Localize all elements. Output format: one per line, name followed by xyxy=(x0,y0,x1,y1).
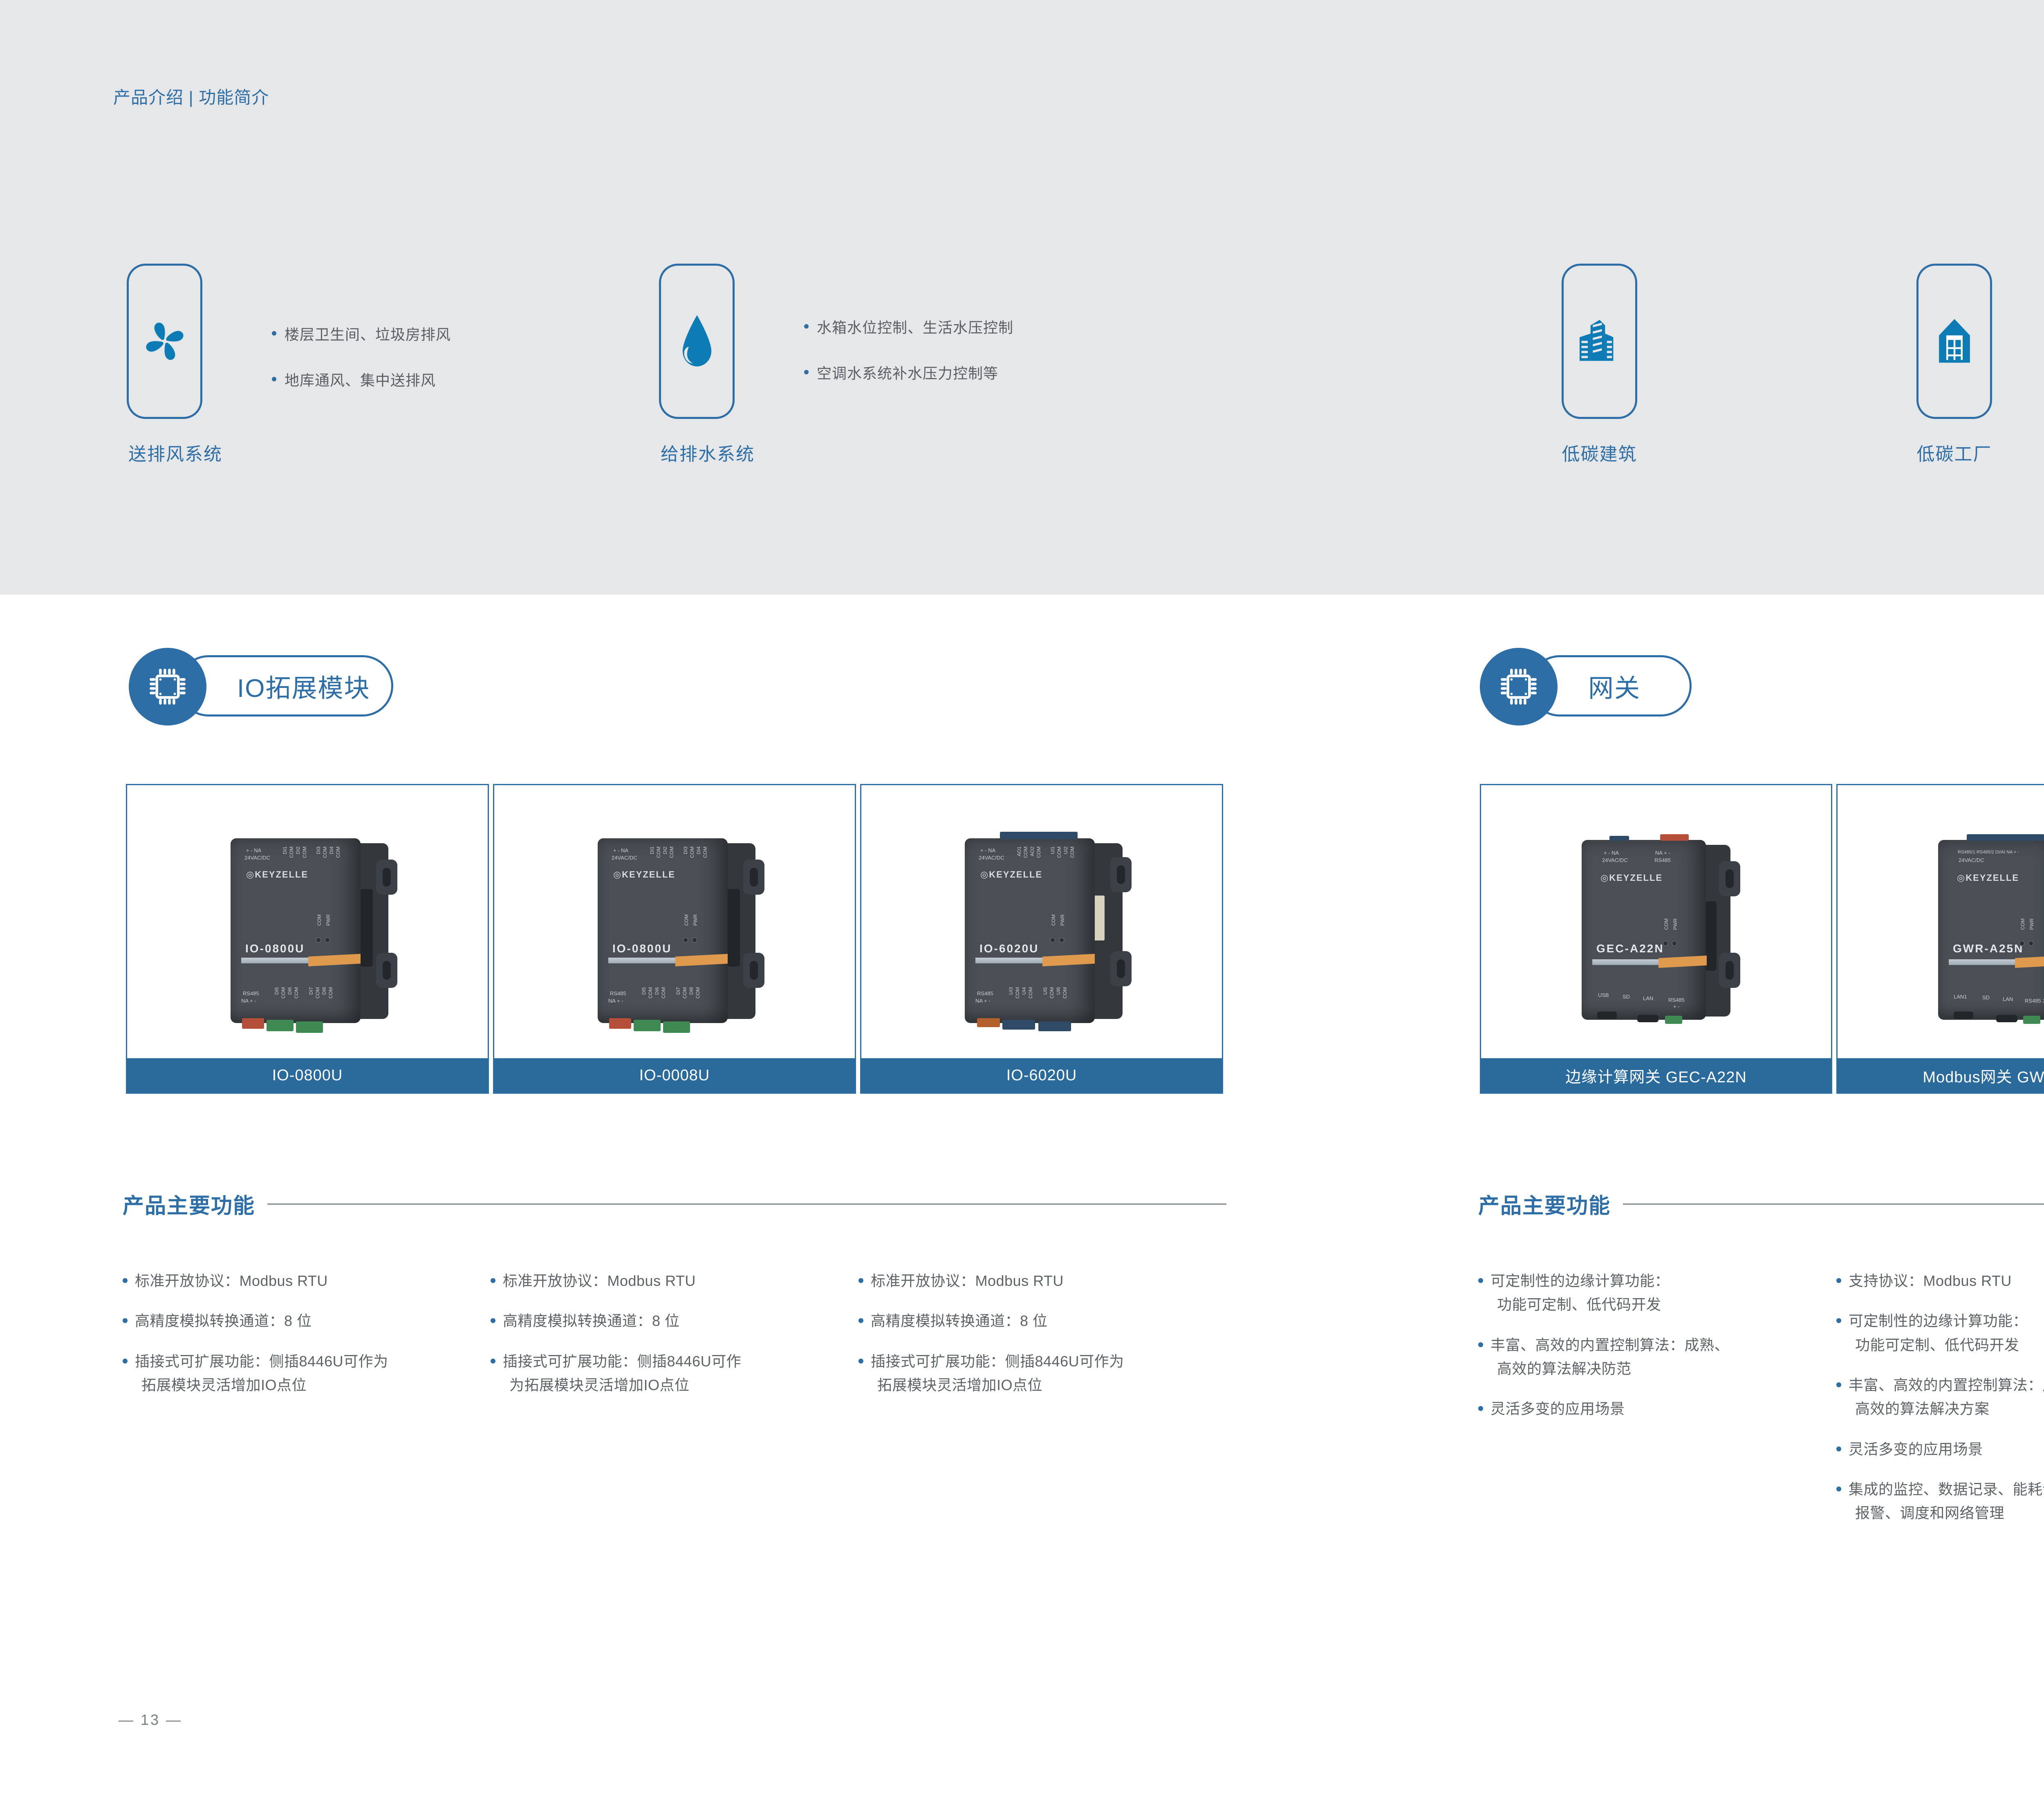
heading-rule xyxy=(267,1203,1226,1205)
product-card[interactable]: + - NA 24VAC/DC DI1 COM DI2 COM DI3 COM … xyxy=(493,784,856,1094)
scenario-caption: 低碳工厂 xyxy=(1917,439,1992,466)
ventilation-caption: 送排风系统 xyxy=(128,439,222,466)
product-photo: + - NA 24VAC/DC DI1 COM DI2 COM DI3 COM … xyxy=(127,785,488,1058)
bullet-text: 高精度模拟转换通道：8 位 xyxy=(503,1309,680,1333)
section-badge-pill: IO拓展模块 xyxy=(178,655,393,717)
ventilation-bullet-list: 楼层卫生间、垃圾房排风 地库通风、集中送排风 xyxy=(272,323,451,414)
list-item: 可定制性的边缘计算功能： 功能可定制、低代码开发 xyxy=(1478,1269,1830,1317)
bullet-dot xyxy=(1478,1406,1483,1411)
device-gec-a22n: + - NA 24VAC/DC NA + - RS485 ◎KEYZELLE G… xyxy=(1546,807,1766,1036)
chip-icon xyxy=(145,664,190,709)
product-photo: RS485/1 RS485/2 DI/AI NA + - 24VAC/DC ◎K… xyxy=(1838,785,2044,1058)
list-item: 高精度模拟转换通道：8 位 xyxy=(858,1309,1218,1333)
factory-icon-frame xyxy=(1916,264,1992,419)
heading-rule xyxy=(1623,1203,2044,1205)
factory-icon xyxy=(1933,317,1976,365)
bullet-dot xyxy=(1836,1318,1841,1323)
bullet-dot xyxy=(491,1278,495,1283)
application-block-ventilation: 楼层卫生间、垃圾房排风 地库通风、集中送排风 送排风系统 xyxy=(127,264,617,501)
bullet-text: 高精度模拟转换通道：8 位 xyxy=(135,1309,312,1333)
product-photo: + - NA 24VAC/DC DI1 COM DI2 COM DI3 COM … xyxy=(494,785,855,1058)
device-gwr-a25n: RS485/1 RS485/2 DI/AI NA + - 24VAC/DC ◎K… xyxy=(1902,807,2044,1036)
product-label: Modbus网关 GWR-A25N xyxy=(1838,1058,2044,1093)
bullet-dot xyxy=(1836,1278,1841,1283)
bullet-line: 高效的算法解决防范 xyxy=(1490,1357,1729,1381)
list-item: 水箱水位控制、生活水压控制 xyxy=(804,316,1013,337)
features-column: 标准开放协议：Modbus RTU 高精度模拟转换通道：8 位 插接式可扩展功能… xyxy=(491,1269,850,1413)
bullet-line: 可定制性的边缘计算功能： xyxy=(1490,1272,1670,1289)
list-item: 插接式可扩展功能：侧插8446U可作为 拓展模块灵活增加IO点位 xyxy=(123,1350,482,1397)
device-io-0800u: + - NA 24VAC/DC DI1 COM DI2 COM DI3 COM … xyxy=(193,807,422,1036)
bullet-dot xyxy=(858,1278,863,1283)
features-column: 标准开放协议：Modbus RTU 高精度模拟转换通道：8 位 插接式可扩展功能… xyxy=(858,1269,1218,1413)
bullet-dot xyxy=(491,1318,495,1323)
scenario-low-carbon-building: 低碳建筑 xyxy=(1562,264,1637,476)
list-item: 灵活多变的应用场景 xyxy=(1836,1438,2044,1461)
bullet-text: 地库通风、集中送排风 xyxy=(285,369,436,390)
list-item: 插接式可扩展功能：侧插8446U可作为 拓展模块灵活增加IO点位 xyxy=(858,1350,1218,1397)
product-card[interactable]: + - NA 24VAC/DC DI1 COM DI2 COM DI3 COM … xyxy=(126,784,489,1094)
list-item: 丰富、高效的内置控制算法：成熟、 高效的算法解决防范 xyxy=(1478,1333,1830,1381)
bullet-line: 报警、调度和网络管理 xyxy=(1849,1501,2044,1525)
bullet-dot xyxy=(272,331,276,336)
bullet-dot xyxy=(804,324,809,329)
list-item: 楼层卫生间、垃圾房排风 xyxy=(272,323,451,344)
bullet-dot xyxy=(1478,1342,1483,1347)
device-io-6020u: + - NA 24VAC/DC AO1 COM AO2 COM UI1 COM … xyxy=(927,807,1156,1036)
bullet-text: 灵活多变的应用场景 xyxy=(1849,1438,1983,1461)
bullet-dot xyxy=(1836,1446,1841,1451)
product-label: IO-6020U xyxy=(861,1058,1222,1093)
bullet-line: 高效的算法解决方案 xyxy=(1849,1397,2044,1421)
features-title: 产品主要功能 xyxy=(1478,1189,1611,1219)
section-badge-label: 网关 xyxy=(1588,667,1641,704)
water-caption: 给排水系统 xyxy=(661,439,755,466)
list-item: 可定制性的边缘计算功能： 功能可定制、低代码开发 xyxy=(1836,1309,2044,1357)
list-item: 标准开放协议：Modbus RTU xyxy=(123,1269,482,1293)
list-item: 高精度模拟转换通道：8 位 xyxy=(491,1309,850,1333)
bullet-dot xyxy=(1836,1487,1841,1491)
bullet-dot xyxy=(123,1359,128,1364)
features-column: 标准开放协议：Modbus RTU 高精度模拟转换通道：8 位 插接式可扩展功能… xyxy=(123,1269,482,1413)
product-card[interactable]: + - NA 24VAC/DC AO1 COM AO2 COM UI1 COM … xyxy=(860,784,1223,1094)
page-number-left: — 13 — xyxy=(119,1711,182,1729)
list-item: 空调水系统补水压力控制等 xyxy=(804,362,1013,383)
bullet-text-block: 丰富、高效的内置控制算法：成熟、 高效的算法解决防范 xyxy=(1490,1333,1729,1381)
bullet-line: 为拓展模块灵活增加IO点位 xyxy=(503,1373,741,1397)
list-item: 插接式可扩展功能：侧插8446U可作 为拓展模块灵活增加IO点位 xyxy=(491,1350,850,1397)
scenario-caption: 低碳建筑 xyxy=(1562,439,1637,466)
application-block-water: 水箱水位控制、生活水压控制 空调水系统补水压力控制等 给排水系统 xyxy=(659,264,1190,501)
building-icon-frame xyxy=(1562,264,1637,419)
bullet-text: 标准开放协议：Modbus RTU xyxy=(135,1269,328,1293)
list-item: 地库通风、集中送排风 xyxy=(272,369,451,390)
features-column: 可定制性的边缘计算功能： 功能可定制、低代码开发 丰富、高效的内置控制算法：成熟… xyxy=(1478,1269,1830,1438)
chip-icon xyxy=(1496,664,1541,709)
water-icon-frame xyxy=(659,264,735,419)
fan-icon xyxy=(140,317,189,366)
product-label: 边缘计算网关 GEC-A22N xyxy=(1481,1058,1831,1093)
list-item: 灵活多变的应用场景 xyxy=(1478,1397,1830,1421)
bullet-text-block: 可定制性的边缘计算功能： 功能可定制、低代码开发 xyxy=(1490,1269,1670,1317)
scenario-low-carbon-factory: 低碳工厂 xyxy=(1916,264,1992,476)
bullet-text: 标准开放协议：Modbus RTU xyxy=(871,1269,1064,1293)
bullet-dot xyxy=(858,1318,863,1323)
bullet-dot xyxy=(1478,1278,1483,1283)
bullet-text: 楼层卫生间、垃圾房排风 xyxy=(285,323,451,344)
water-bullet-list: 水箱水位控制、生活水压控制 空调水系统补水压力控制等 xyxy=(804,316,1013,408)
list-item: 丰富、高效的内置控制算法：成熟、 高效的算法解决方案 xyxy=(1836,1373,2044,1421)
features-column: 支持协议：Modbus RTU 可定制性的边缘计算功能： 功能可定制、低代码开发… xyxy=(1836,1269,2044,1542)
list-item: 集成的监控、数据记录、能耗计量、 报警、调度和网络管理 xyxy=(1836,1478,2044,1525)
bullet-dot xyxy=(272,377,276,381)
bullet-text-block: 可定制性的边缘计算功能： 功能可定制、低代码开发 xyxy=(1849,1309,2028,1357)
bullet-dot xyxy=(491,1359,495,1364)
bullet-line: 丰富、高效的内置控制算法：成熟、 xyxy=(1849,1377,2044,1393)
chip-icon-circle xyxy=(1480,648,1558,725)
device-io-0008u: + - NA 24VAC/DC DI1 COM DI2 COM DI3 COM … xyxy=(560,807,789,1036)
bullet-text: 高精度模拟转换通道：8 位 xyxy=(871,1309,1048,1333)
list-item: 标准开放协议：Modbus RTU xyxy=(858,1269,1218,1293)
bullet-text-block: 插接式可扩展功能：侧插8446U可作为 拓展模块灵活增加IO点位 xyxy=(135,1350,388,1397)
product-label: IO-0800U xyxy=(127,1058,488,1093)
product-card[interactable]: RS485/1 RS485/2 DI/AI NA + - 24VAC/DC ◎K… xyxy=(1836,784,2044,1094)
ventilation-icon-frame xyxy=(127,264,202,419)
list-item: 标准开放协议：Modbus RTU xyxy=(491,1269,850,1293)
product-photo: + - NA 24VAC/DC NA + - RS485 ◎KEYZELLE G… xyxy=(1481,785,1831,1058)
running-head-left: 产品介绍 | 功能简介 xyxy=(113,84,269,109)
bullet-line: 功能可定制、低代码开发 xyxy=(1490,1293,1670,1317)
chip-icon-circle xyxy=(129,648,206,725)
bullet-dot xyxy=(804,370,809,374)
product-photo: + - NA 24VAC/DC AO1 COM AO2 COM UI1 COM … xyxy=(861,785,1222,1058)
bullet-line: 插接式可扩展功能：侧插8446U可作为 xyxy=(871,1353,1124,1370)
list-item: 支持协议：Modbus RTU xyxy=(1836,1269,2044,1293)
bullet-text-block: 丰富、高效的内置控制算法：成熟、 高效的算法解决方案 xyxy=(1849,1373,2044,1421)
bullet-dot xyxy=(858,1359,863,1364)
bullet-line: 拓展模块灵活增加IO点位 xyxy=(135,1373,388,1397)
bullet-line: 插接式可扩展功能：侧插8446U可作为 xyxy=(135,1353,388,1370)
features-heading-io: 产品主要功能 xyxy=(123,1189,1226,1219)
water-drop-icon xyxy=(675,313,719,369)
bullet-text-block: 插接式可扩展功能：侧插8446U可作 为拓展模块灵活增加IO点位 xyxy=(503,1350,741,1397)
bullet-text-block: 集成的监控、数据记录、能耗计量、 报警、调度和网络管理 xyxy=(1849,1478,2044,1525)
bullet-text: 灵活多变的应用场景 xyxy=(1490,1397,1625,1421)
bullet-text: 水箱水位控制、生活水压控制 xyxy=(817,316,1013,337)
bullet-line: 功能可定制、低代码开发 xyxy=(1849,1333,2028,1357)
bullet-text: 支持协议：Modbus RTU xyxy=(1849,1269,2012,1293)
features-heading-gateway: 产品主要功能 xyxy=(1478,1189,2044,1219)
section-badge-label: IO拓展模块 xyxy=(237,667,370,704)
list-item: 高精度模拟转换通道：8 位 xyxy=(123,1309,482,1333)
bullet-line: 拓展模块灵活增加IO点位 xyxy=(871,1373,1124,1397)
product-label: IO-0008U xyxy=(494,1058,855,1093)
bullet-line: 集成的监控、数据记录、能耗计量、 xyxy=(1849,1481,2044,1498)
bullet-dot xyxy=(1836,1382,1841,1387)
spread-page: 产品介绍 | 功能简介 产品介绍 | 功能简介 楼层卫生间、垃圾房排风 地库通风… xyxy=(0,0,2044,1798)
bullet-line: 丰富、高效的内置控制算法：成熟、 xyxy=(1490,1337,1729,1353)
bullet-text-block: 插接式可扩展功能：侧插8446U可作为 拓展模块灵活增加IO点位 xyxy=(871,1350,1124,1397)
bullet-line: 插接式可扩展功能：侧插8446U可作 xyxy=(503,1353,741,1370)
bullet-line: 可定制性的边缘计算功能： xyxy=(1849,1312,2028,1329)
office-building-icon xyxy=(1577,317,1623,365)
bullet-dot xyxy=(123,1278,128,1283)
bullet-text: 标准开放协议：Modbus RTU xyxy=(503,1269,696,1293)
bullet-text: 空调水系统补水压力控制等 xyxy=(817,362,998,383)
features-title: 产品主要功能 xyxy=(123,1189,255,1219)
product-card[interactable]: + - NA 24VAC/DC NA + - RS485 ◎KEYZELLE G… xyxy=(1480,784,1832,1094)
bullet-dot xyxy=(123,1318,128,1323)
